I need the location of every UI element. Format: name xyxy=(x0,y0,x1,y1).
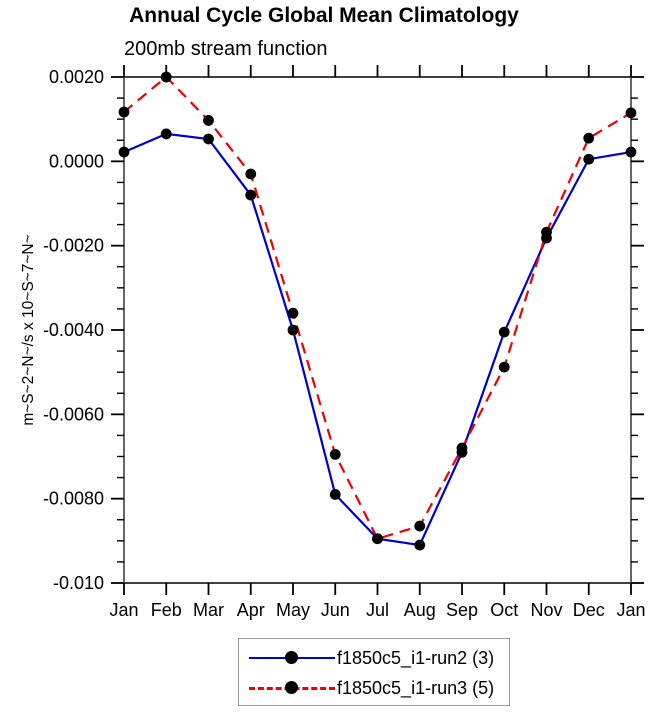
data-point xyxy=(245,169,256,180)
data-point xyxy=(161,129,172,140)
x-tick-label: Nov xyxy=(530,600,562,620)
x-tick-label: Aug xyxy=(404,600,436,620)
data-point xyxy=(414,540,425,551)
data-point xyxy=(626,107,637,118)
data-point xyxy=(414,521,425,532)
chart-legend: f1850c5_i1-run2 (3) f1850c5_i1-run3 (5) xyxy=(238,638,510,706)
data-point xyxy=(499,362,510,373)
data-point xyxy=(330,449,341,460)
x-tick-label: Jul xyxy=(366,600,389,620)
x-tick-label: Jan xyxy=(616,600,645,620)
y-tick-label: 0.0020 xyxy=(49,67,104,87)
data-point xyxy=(583,154,594,165)
plot-frame xyxy=(124,77,631,583)
data-point xyxy=(499,327,510,338)
legend-label-0: f1850c5_i1-run2 (3) xyxy=(337,648,494,669)
data-point xyxy=(457,443,468,454)
legend-swatch-0 xyxy=(249,647,335,669)
x-tick-label: Sep xyxy=(446,600,478,620)
line-chart-plot: 0.00200.0000-0.0020-0.0040-0.0060-0.0080… xyxy=(0,0,648,640)
series-line-1 xyxy=(124,77,631,539)
x-tick-label: Apr xyxy=(237,600,265,620)
y-tick-label: -0.0040 xyxy=(43,320,104,340)
data-point xyxy=(372,533,383,544)
x-tick-label: Dec xyxy=(573,600,605,620)
x-tick-label: May xyxy=(276,600,310,620)
y-tick-label: -0.010 xyxy=(53,573,104,593)
legend-swatch-1 xyxy=(249,677,335,699)
data-point xyxy=(288,325,299,336)
data-point xyxy=(203,115,214,126)
x-tick-label: Jun xyxy=(321,600,350,620)
data-point xyxy=(119,147,130,158)
y-tick-label: -0.0020 xyxy=(43,236,104,256)
y-tick-label: 0.0000 xyxy=(49,151,104,171)
data-point xyxy=(119,107,130,118)
legend-item-1[interactable]: f1850c5_i1-run3 (5) xyxy=(239,673,511,703)
y-tick-label: -0.0060 xyxy=(43,404,104,424)
data-point xyxy=(626,147,637,158)
data-point xyxy=(330,489,341,500)
x-tick-label: Feb xyxy=(151,600,182,620)
chart-page: Annual Cycle Global Mean Climatology 200… xyxy=(0,0,648,715)
x-tick-label: Oct xyxy=(490,600,518,620)
legend-marker-0 xyxy=(285,651,298,664)
data-point xyxy=(161,72,172,83)
legend-label-1: f1850c5_i1-run3 (5) xyxy=(337,678,494,699)
y-tick-label: -0.0080 xyxy=(43,489,104,509)
series-line-0 xyxy=(124,134,631,545)
data-point xyxy=(245,190,256,201)
legend-marker-1 xyxy=(285,681,298,694)
data-point xyxy=(203,134,214,145)
y-axis-ticks: 0.00200.0000-0.0020-0.0040-0.0060-0.0080… xyxy=(43,67,644,593)
data-point xyxy=(288,308,299,319)
data-point xyxy=(583,133,594,144)
data-point xyxy=(541,227,552,238)
x-tick-label: Mar xyxy=(193,600,224,620)
legend-item-0[interactable]: f1850c5_i1-run2 (3) xyxy=(239,643,511,673)
x-tick-label: Jan xyxy=(109,600,138,620)
